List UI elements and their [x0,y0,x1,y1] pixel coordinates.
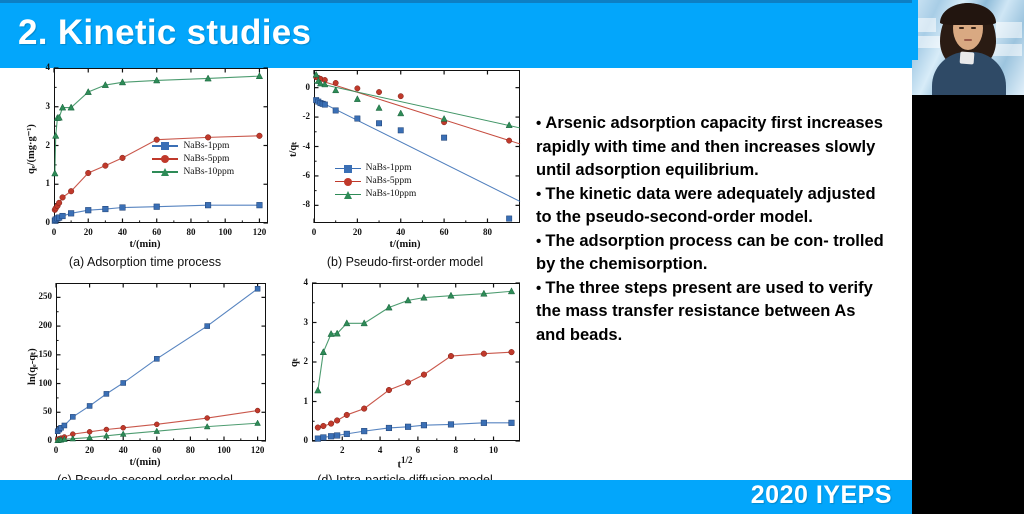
legend-label: NaBs-1ppm [366,163,412,173]
x-tick-label: 60 [148,445,166,455]
legend-marker-triangle-icon [152,166,178,178]
page-title: 2. Kinetic studies [18,13,311,53]
y-axis-label: qₑ/(mg·g⁻¹) [25,124,37,174]
x-tick-label: 60 [148,227,166,237]
x-axis-label: t/(min) [280,239,530,250]
x-tick-label: 20 [81,445,99,455]
x-tick-label: 80 [182,227,200,237]
x-tick-label: 6 [409,445,427,455]
legend-b: NaBs-1ppmNaBs-5ppmNaBs-10ppm [335,162,417,201]
bullet-text: Arsenic adsorption capacity first increa… [536,114,883,179]
x-tick-label: 120 [249,445,267,455]
series-NaBs-1ppm [313,97,520,221]
x-tick-label: 40 [114,445,132,455]
webcam-thumbnail[interactable] [912,0,1024,95]
legend-row: NaBs-5ppm [335,175,417,188]
x-tick-label: 20 [348,227,366,237]
chart-panel-a: 02040608010012001234t/(min)qₑ/(mg·g⁻¹)(a… [14,60,276,275]
y-axis-label: ln(qₑ-qₜ) [26,349,38,386]
x-tick-label: 60 [435,227,453,237]
x-axis-label: t1/2 [280,455,530,471]
y-tick-label: 4 [28,62,50,72]
presenter-eye-right [971,27,976,29]
bullet-text: The kinetic data were adequately adjuste… [536,185,876,227]
legend-marker-square-icon [152,140,178,152]
presentation-screen: 2. Kinetic studies 02040608010012001234t… [0,0,1024,514]
legend-row: NaBs-1ppm [152,139,234,152]
series-NaBs-10ppm [315,288,515,393]
presenter-eye-left [959,27,964,29]
legend-marker-square-icon [335,162,361,174]
bullet-item: • The kinetic data were adequately adjus… [536,183,888,230]
presenter-mouth [964,39,972,41]
series-NaBs-1ppm [315,420,514,441]
bullet-text: The adsorption process can be con- troll… [536,232,884,274]
bullet-dot-icon: • [536,233,545,250]
x-tick-label: 0 [45,227,63,237]
y-tick-label: -2 [288,111,310,121]
legend-a: NaBs-1ppmNaBs-5ppmNaBs-10ppm [152,139,234,178]
legend-row: NaBs-5ppm [152,152,234,165]
legend-label: NaBs-10ppm [366,189,417,199]
y-tick-label: 250 [30,291,52,301]
y-tick-label: 1 [286,396,308,406]
x-tick-label: 0 [47,445,65,455]
chart-caption-a: (a) Adsorption time process [14,255,276,269]
right-black-area [912,95,1024,514]
series-NaBs-1ppm [55,286,260,433]
x-tick-label: 10 [485,445,503,455]
x-axis-label: t/(min) [14,457,276,468]
x-tick-label: 100 [215,445,233,455]
y-tick-label: 0 [288,82,310,92]
legend-label: NaBs-5ppm [183,154,229,164]
bullet-list: • Arsenic adsorption capacity first incr… [536,112,888,347]
legend-marker-triangle-icon [335,188,361,200]
x-tick-label: 100 [216,227,234,237]
x-tick-label: 40 [113,227,131,237]
y-tick-label: -6 [288,170,310,180]
bullet-dot-icon: • [536,186,545,203]
slide-canvas: 2. Kinetic studies 02040608010012001234t… [0,0,912,514]
bullet-text: The three steps present are used to veri… [536,279,873,344]
y-tick-label: 3 [28,101,50,111]
legend-label: NaBs-5ppm [366,176,412,186]
presenter-collar [960,52,975,65]
x-tick-label: 8 [447,445,465,455]
x-tick-label: 4 [371,445,389,455]
chart-panel-b: 020406080-8-6-4-20t/(min)t/qₜ(b) Pseudo-… [280,60,530,275]
legend-label: NaBs-1ppm [183,141,229,151]
bullet-dot-icon: • [536,115,545,132]
x-tick-label: 80 [478,227,496,237]
x-axis-label: t/(min) [14,239,276,250]
y-tick-label: 0 [286,435,308,445]
y-tick-label: 0 [30,435,52,445]
x-tick-label: 120 [250,227,268,237]
series-NaBs-5ppm [313,74,520,144]
y-tick-label: 50 [30,406,52,416]
legend-row: NaBs-1ppm [335,162,417,175]
y-tick-label: 200 [30,320,52,330]
bullet-item: • The adsorption process can be con- tro… [536,230,888,277]
y-axis-label: t/qₜ [287,142,299,157]
series-NaBs-10ppm [313,71,520,128]
x-tick-label: 80 [181,445,199,455]
x-tick-label: 40 [392,227,410,237]
chart-panel-d: 24681001234t1/2qₜ(d) Intra-particle diff… [280,275,530,497]
x-tick-label: 0 [305,227,323,237]
bullet-dot-icon: • [536,280,545,297]
y-tick-label: -8 [288,199,310,209]
y-tick-label: 4 [286,277,308,287]
series-NaBs-5ppm [315,349,514,430]
chart-caption-b: (b) Pseudo-first-order model [280,255,530,269]
webcam-bg-panel [992,44,1022,56]
webcam-blue-edge [912,0,918,60]
legend-row: NaBs-10ppm [152,165,234,178]
legend-marker-circle-icon [335,175,361,187]
legend-marker-circle-icon [152,153,178,165]
y-tick-label: 0 [28,217,50,227]
webcam-bg-panel [996,22,1022,38]
footer-text: 2020 IYEPS [751,481,892,510]
bullet-item: • Arsenic adsorption capacity first incr… [536,112,888,183]
y-tick-label: 3 [286,317,308,327]
y-tick-label: 1 [28,178,50,188]
legend-label: NaBs-10ppm [183,167,234,177]
x-tick-label: 20 [79,227,97,237]
legend-row: NaBs-10ppm [335,188,417,201]
x-tick-label: 2 [333,445,351,455]
y-axis-label: qₜ [288,358,300,367]
bullet-item: • The three steps present are used to ve… [536,277,888,348]
chart-panel-c: 020406080100120050100150200250t/(min)ln(… [14,275,276,497]
